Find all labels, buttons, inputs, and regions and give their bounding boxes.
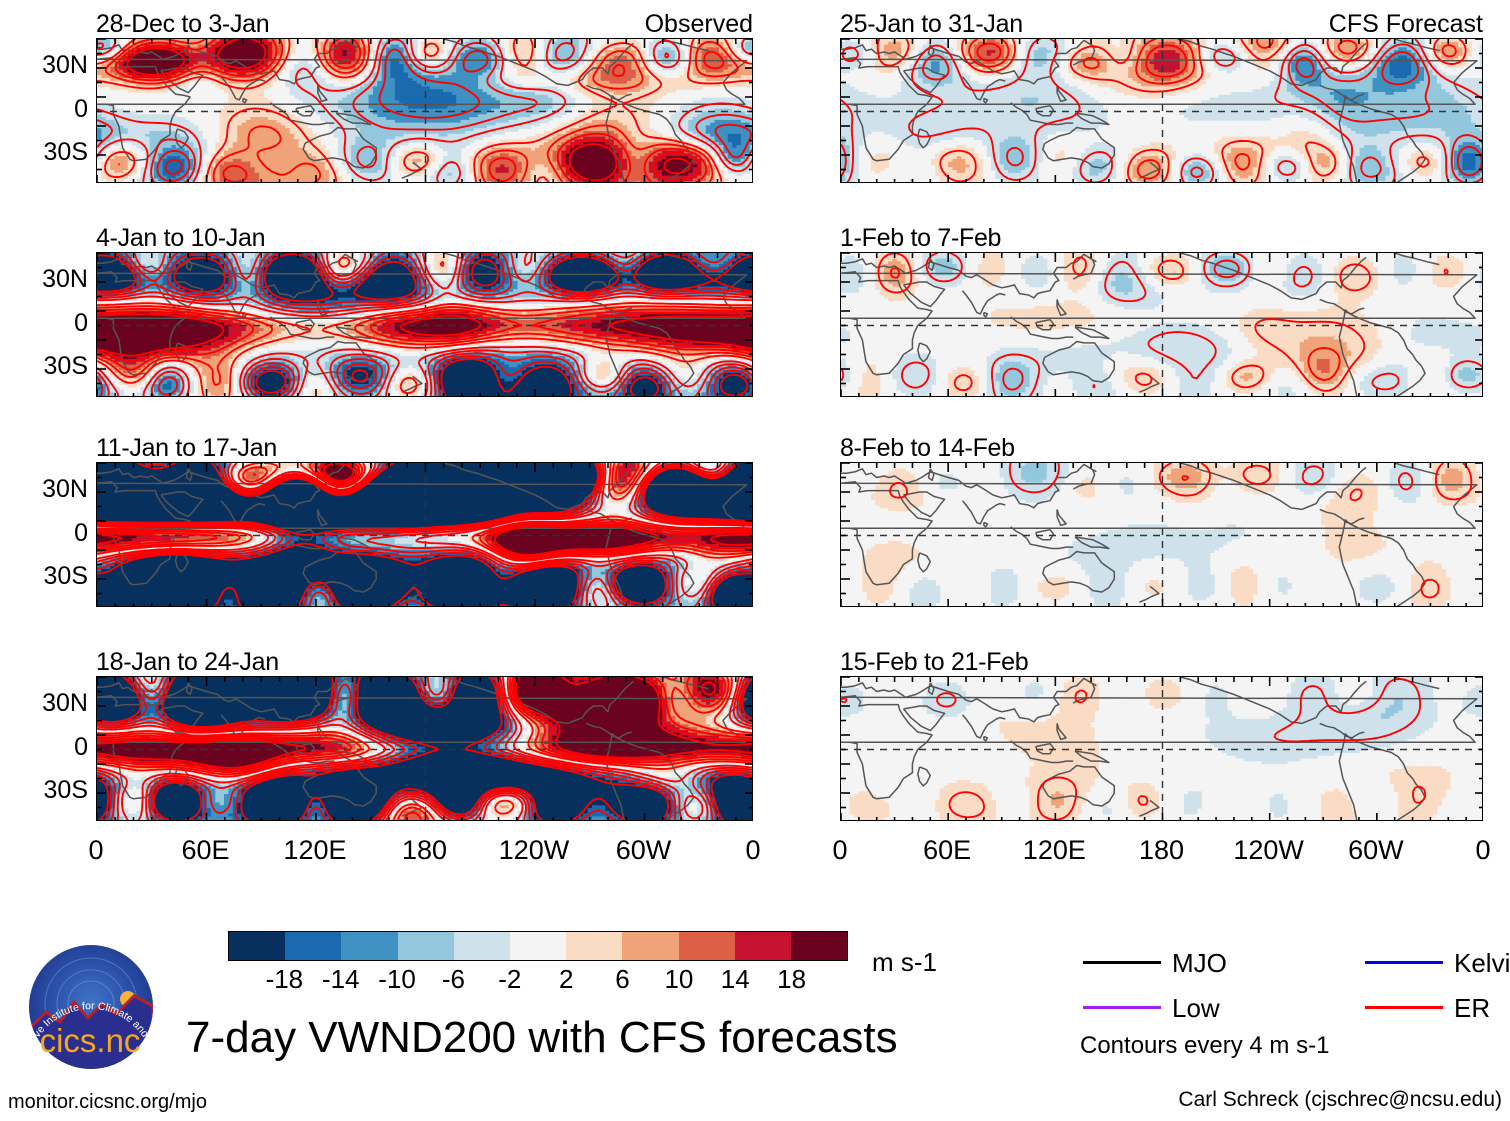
contour-interval-note: Contours every 4 m s-1: [1080, 1032, 1329, 1060]
legend-label-low: Low: [1172, 993, 1220, 1024]
y-tick-label-obs-3-2: 30S: [4, 562, 88, 591]
logo-wordmark: cics.nc: [40, 1022, 141, 1059]
x-tick-label-left-2: 120E: [255, 835, 375, 866]
colorbar-swatch-8: [679, 932, 735, 960]
colorbar-swatch-6: [566, 932, 622, 960]
map-panel-fcs-3: [840, 462, 1483, 607]
y-tick-label-obs-4-1: 0: [4, 733, 88, 762]
column-header-right: CFS Forecast: [0, 10, 1483, 39]
panel-title-fcs-4: 15-Feb to 21-Feb: [840, 648, 1028, 677]
colorbar-swatch-3: [398, 932, 454, 960]
y-tick-label-obs-1-1: 0: [4, 95, 88, 124]
panel-title-obs-3: 11-Jan to 17-Jan: [96, 434, 277, 463]
y-tick-label-obs-2-0: 30N: [4, 265, 88, 294]
map-panel-obs-1: [96, 38, 753, 183]
map-panel-fcs-2: [840, 252, 1483, 397]
x-tick-label-right-6: 0: [1423, 835, 1510, 866]
x-tick-label-right-1: 60E: [887, 835, 1007, 866]
colorbar-swatch-0: [229, 932, 285, 960]
map-panel-obs-2: [96, 252, 753, 397]
legend-label-er: ER: [1454, 993, 1490, 1024]
x-tick-label-left-0: 0: [36, 835, 156, 866]
colorbar-swatch-5: [510, 932, 566, 960]
y-tick-label-obs-1-0: 30N: [4, 51, 88, 80]
y-tick-label-obs-3-1: 0: [4, 519, 88, 548]
legend-swatch-low: [1083, 1006, 1161, 1009]
x-tick-label-left-3: 180: [365, 835, 485, 866]
panel-title-obs-4: 18-Jan to 24-Jan: [96, 648, 279, 677]
y-tick-label-obs-2-1: 0: [4, 309, 88, 338]
panel-title-fcs-3: 8-Feb to 14-Feb: [840, 434, 1015, 463]
main-title: 7-day VWND200 with CFS forecasts: [186, 1013, 898, 1063]
colorbar-swatch-1: [285, 932, 341, 960]
colorbar-swatch-4: [454, 932, 510, 960]
y-tick-label-obs-4-0: 30N: [4, 689, 88, 718]
y-tick-label-obs-2-2: 30S: [4, 352, 88, 381]
y-tick-label-obs-1-2: 30S: [4, 138, 88, 167]
y-tick-label-obs-4-2: 30S: [4, 776, 88, 805]
x-tick-label-right-4: 120W: [1209, 835, 1329, 866]
colorbar-swatch-10: [791, 932, 847, 960]
colorbar: [228, 931, 848, 961]
legend-label-mjo: MJO: [1172, 948, 1227, 979]
x-tick-label-right-0: 0: [780, 835, 900, 866]
colorbar-tick-9: 18: [747, 964, 837, 995]
x-tick-label-left-5: 60W: [584, 835, 704, 866]
map-panel-obs-3: [96, 462, 753, 607]
panel-title-fcs-2: 1-Feb to 7-Feb: [840, 224, 1001, 253]
map-panel-obs-4: [96, 676, 753, 821]
legend-swatch-mjo: [1083, 961, 1161, 964]
colorbar-swatch-9: [735, 932, 791, 960]
x-tick-label-right-2: 120E: [994, 835, 1114, 866]
map-panel-fcs-1: [840, 38, 1483, 183]
colorbar-units-label: m s-1: [872, 947, 937, 978]
colorbar-swatch-2: [341, 932, 397, 960]
map-panel-fcs-4: [840, 676, 1483, 821]
y-tick-label-obs-3-0: 30N: [4, 475, 88, 504]
x-tick-label-right-3: 180: [1102, 835, 1222, 866]
legend-swatch-er: [1365, 1006, 1443, 1009]
colorbar-swatch-7: [622, 932, 678, 960]
x-tick-label-right-5: 60W: [1316, 835, 1436, 866]
footer-author: Carl Schreck (cjschrec@ncsu.edu): [1178, 1088, 1502, 1112]
panel-title-obs-2: 4-Jan to 10-Jan: [96, 224, 265, 253]
x-tick-label-left-4: 120W: [474, 835, 594, 866]
footer-url[interactable]: monitor.cicsnc.org/mjo: [8, 1091, 207, 1114]
legend-swatch-kelvin-x2: [1365, 961, 1443, 964]
x-tick-label-left-1: 60E: [146, 835, 266, 866]
cicsnc-logo: Cooperative Institute for Climate and Sa…: [16, 934, 166, 1080]
legend-label-kelvin-x2: Kelvin x2: [1454, 948, 1510, 979]
